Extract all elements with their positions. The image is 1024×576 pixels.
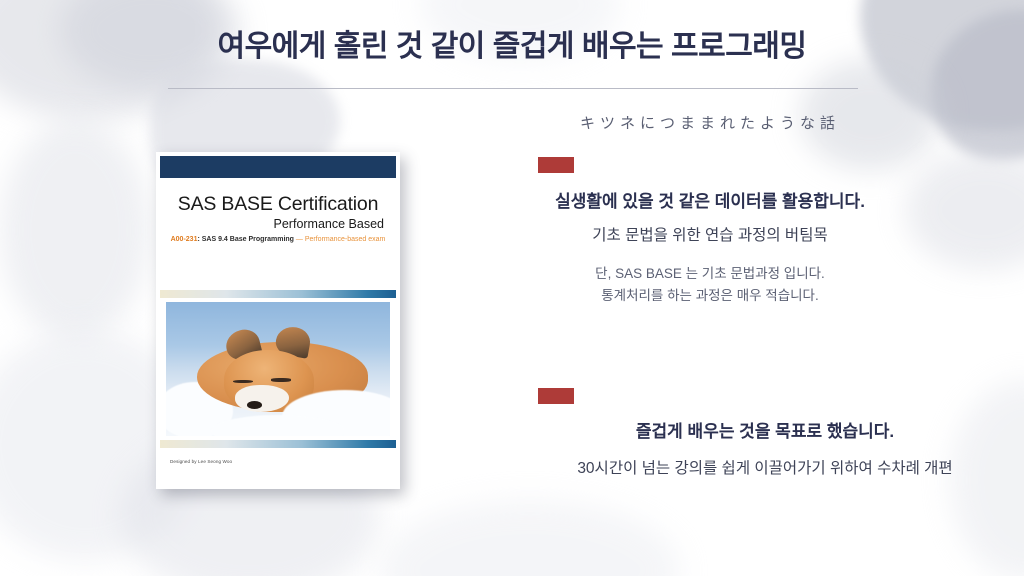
block-1-note-2: 통계처리를 하는 과정은 매우 적습니다. xyxy=(530,285,890,307)
title-divider xyxy=(168,88,858,89)
page-title: 여우에게 홀린 것 같이 즐겁게 배우는 프로그래밍 xyxy=(0,28,1024,66)
book-credit: Designed by Lee Seong Woo xyxy=(156,448,400,464)
fox-eye-left xyxy=(233,380,253,383)
book-title: SAS BASE Certification xyxy=(170,194,386,215)
book-cover: SAS BASE Certification Performance Based… xyxy=(156,152,400,489)
book-subtitle: Performance Based xyxy=(170,217,386,231)
book-exam-name: : SAS 9.4 Base Programming xyxy=(197,236,293,243)
accent-bar-block-2 xyxy=(538,388,574,404)
slide-canvas: 여우에게 홀린 것 같이 즐겁게 배우는 프로그래밍 キツネにつままれたような話… xyxy=(0,0,1024,576)
text-block-2: 즐겁게 배우는 것을 목표로 했습니다. 30시간이 넘는 강의를 쉽게 이끌어… xyxy=(530,420,1000,480)
block-2-subheading: 30시간이 넘는 강의를 쉽게 이끌어가기 위하여 수차례 개편 xyxy=(530,457,1000,480)
fox-photo xyxy=(166,302,390,436)
book-exam-code: A00-231 xyxy=(171,236,198,243)
block-1-note-1: 단, SAS BASE 는 기초 문법과정 입니다. xyxy=(530,263,890,285)
block-1-heading: 실생활에 있을 것 같은 데이터를 활용합니다. xyxy=(530,190,890,215)
title-block: 여우에게 홀린 것 같이 즐겁게 배우는 프로그래밍 xyxy=(0,28,1024,66)
text-block-1: 실생활에 있을 것 같은 데이터를 활용합니다. 기초 문법을 위한 연습 과정… xyxy=(530,190,890,307)
block-1-subheading: 기초 문법을 위한 연습 과정의 버팀목 xyxy=(530,224,890,247)
book-title-area: SAS BASE Certification Performance Based… xyxy=(156,178,400,290)
fox-eye-right xyxy=(271,378,291,381)
block-2-heading: 즐겁게 배우는 것을 목표로 했습니다. xyxy=(530,420,1000,445)
book-exam-line: A00-231: SAS 9.4 Base Programming — Perf… xyxy=(170,236,386,243)
subtitle-japanese: キツネにつままれたような話 xyxy=(530,112,890,133)
book-exam-tail: — Performance-based exam xyxy=(294,236,385,243)
book-band-bottom-photo xyxy=(160,440,396,448)
book-top-band xyxy=(160,156,396,178)
book-band-top-photo xyxy=(160,290,396,298)
accent-bar-block-1 xyxy=(538,157,574,173)
